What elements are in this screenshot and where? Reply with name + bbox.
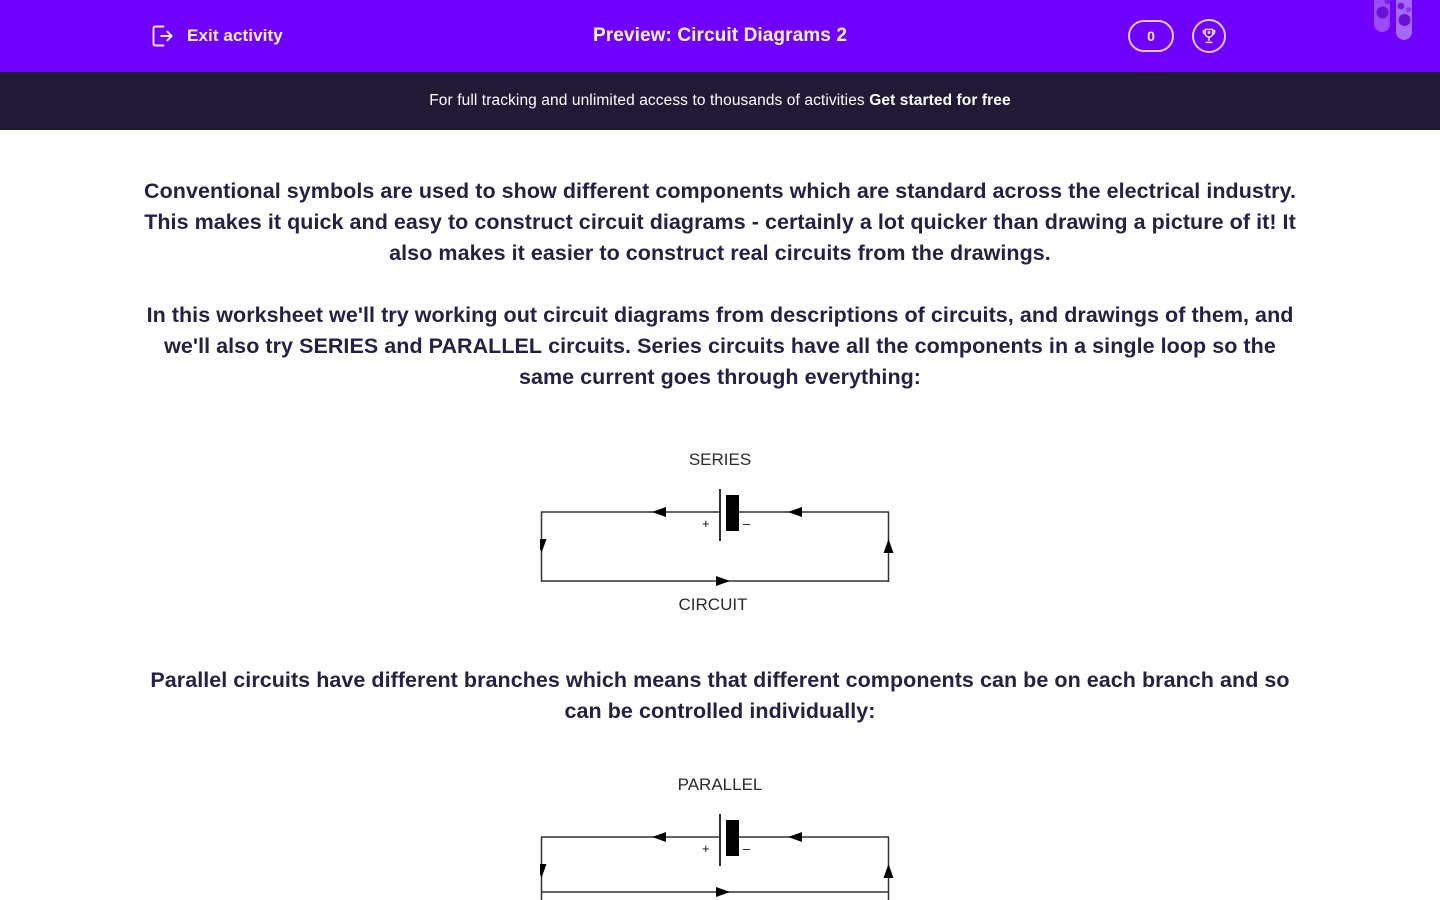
- current-arrow-right: [884, 864, 894, 878]
- battery-negative-sign: –: [743, 841, 751, 856]
- current-arrow-top-left: [652, 507, 666, 517]
- series-circuit-figure: SERIES + – CIRCUIT: [80, 441, 1360, 616]
- battery-negative-sign: –: [743, 516, 751, 531]
- app-header: Exit activity Preview: Circuit Diagrams …: [0, 0, 1440, 72]
- parallel-keyword: PARALLEL: [429, 334, 542, 358]
- test-tubes-icon: [1363, 0, 1423, 72]
- battery-positive-sign: +: [702, 516, 710, 531]
- exit-activity-button[interactable]: Exit activity: [150, 23, 283, 49]
- current-arrow-left: [540, 539, 547, 553]
- header-actions: 0: [1128, 19, 1226, 53]
- parallel-label-top: PARALLEL: [678, 775, 763, 794]
- current-arrow-bottom: [716, 576, 730, 586]
- parallel-circuit-diagram: PARALLEL + –: [540, 766, 900, 900]
- current-arrow-left: [540, 864, 547, 878]
- intro-paragraph: Conventional symbols are used to show di…: [140, 130, 1300, 269]
- exit-activity-label: Exit activity: [187, 26, 283, 46]
- get-started-link[interactable]: Get started for free: [869, 92, 1011, 109]
- trophy-icon[interactable]: [1192, 19, 1226, 53]
- promo-message-text: For full tracking and unlimited access t…: [429, 92, 865, 109]
- paragraph-2-text-2: and: [378, 334, 428, 358]
- series-label-top: SERIES: [689, 450, 751, 469]
- current-arrow-top-left: [652, 832, 666, 842]
- battery-negative-plate: [726, 495, 739, 531]
- series-label-bottom: CIRCUIT: [679, 595, 748, 614]
- worksheet-body: Conventional symbols are used to show di…: [0, 130, 1440, 900]
- current-arrow-right: [884, 539, 894, 553]
- score-badge[interactable]: 0: [1128, 20, 1174, 52]
- parallel-paragraph: Parallel circuits have different branche…: [140, 616, 1300, 727]
- battery-positive-sign: +: [702, 841, 710, 856]
- current-arrow-top-right: [788, 507, 802, 517]
- current-arrow-branch: [716, 887, 730, 897]
- paragraph-2-text-3: circuits. Series circuits have all the c…: [519, 334, 1276, 389]
- series-keyword: SERIES: [299, 334, 378, 358]
- parallel-circuit-figure: PARALLEL + –: [80, 766, 1360, 900]
- series-circuit-diagram: SERIES + – CIRCUIT: [540, 441, 900, 616]
- current-arrow-top-right: [788, 832, 802, 842]
- exit-arrow-icon: [150, 23, 176, 49]
- worksheet-intro-paragraph: In this worksheet we'll try working out …: [140, 269, 1300, 393]
- promo-banner: For full tracking and unlimited access t…: [0, 72, 1440, 130]
- promo-message: For full tracking and unlimited access t…: [429, 92, 1011, 110]
- battery-negative-plate: [726, 820, 739, 856]
